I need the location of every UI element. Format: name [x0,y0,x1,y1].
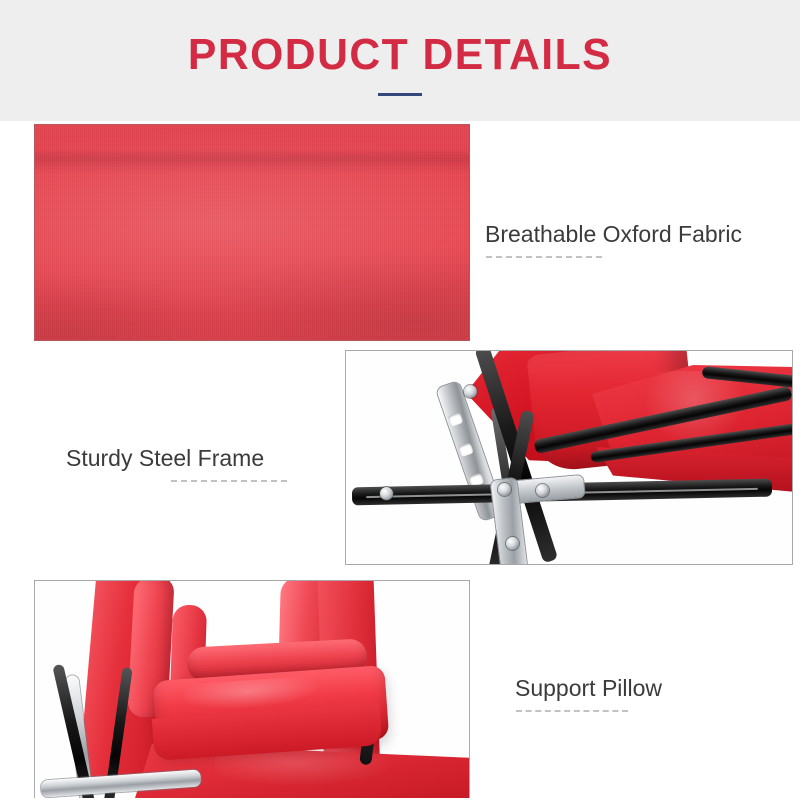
caption-sturdy-steel-frame: Sturdy Steel Frame [66,446,287,482]
support-pillow-photo [34,580,470,798]
title-divider-rule [378,93,422,96]
fabric-swatch-photo [34,124,470,341]
fabric-sheen-overlay [35,125,469,340]
support-pillow-scene [35,581,469,798]
bracket-pivot-rivet [464,385,477,398]
caption-label: Sturdy Steel Frame [66,446,287,471]
caption-dashed-underline [171,480,287,482]
seat-highlight [215,749,415,795]
page-title: PRODUCT DETAILS [12,33,788,77]
bracket-notch [458,442,474,457]
steel-frame-photo [345,350,793,565]
caption-breathable-oxford-fabric: Breathable Oxford Fabric [485,222,742,258]
caption-dashed-underline [516,710,628,712]
caption-label: Support Pillow [515,676,662,701]
steel-frame-scene [346,351,792,564]
frame-rivet [498,483,511,496]
caption-support-pillow: Support Pillow [515,676,662,712]
caption-label: Breathable Oxford Fabric [485,222,742,247]
frame-rivet [536,484,549,497]
bracket-notch [448,412,464,427]
caption-dashed-underline [486,256,602,258]
frame-rivet [380,487,393,500]
frame-rivet [506,537,519,550]
